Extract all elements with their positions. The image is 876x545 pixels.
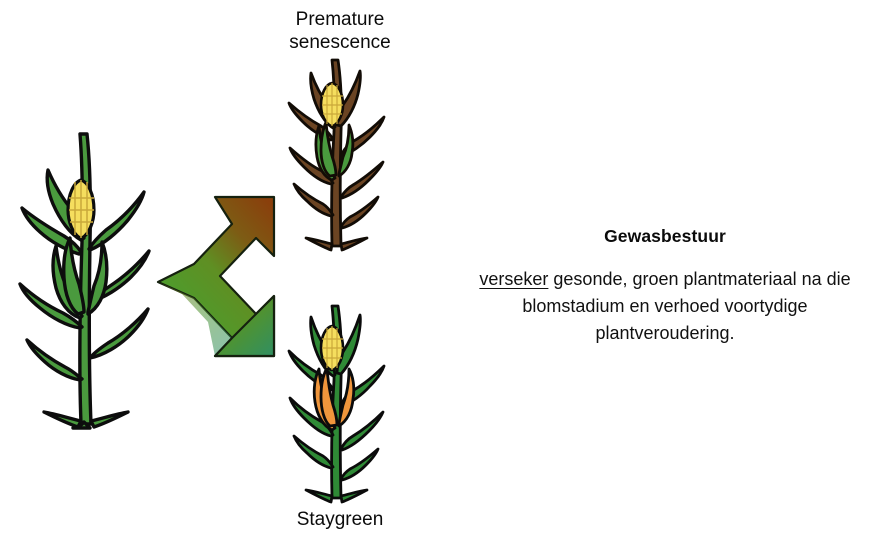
label-staygreen: Staygreen [252, 508, 428, 531]
panel-body: verseker gesonde, groen plantmateriaal n… [458, 266, 872, 347]
label-premature-senescence: Premature senescence [252, 8, 428, 54]
diagram-figure: Premature senescence Staygreen [0, 0, 440, 545]
plant-premature-senescence-illustration [286, 56, 390, 250]
panel-body-keyword: verseker [479, 269, 548, 289]
crop-management-panel: Gewasbestuur verseker gesonde, groen pla… [458, 225, 872, 347]
split-arrow-icon [152, 186, 282, 378]
panel-title: Gewasbestuur [458, 225, 872, 247]
panel-body-rest: gesonde, groen plantmateriaal na die blo… [522, 269, 850, 343]
plant-staygreen-illustration [286, 302, 390, 502]
slide-canvas: Premature senescence Staygreen [0, 0, 876, 545]
